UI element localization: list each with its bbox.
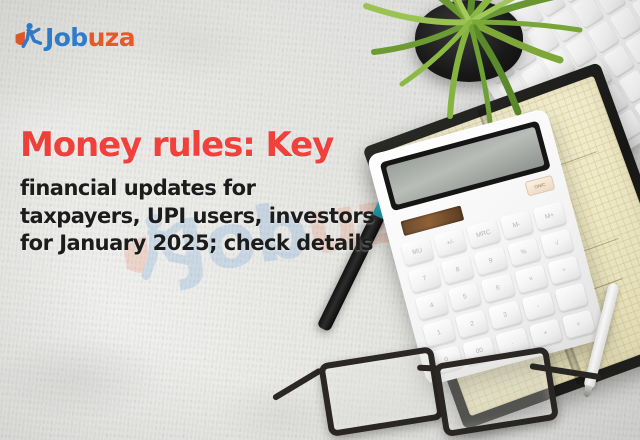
calculator-key[interactable]: 7 <box>408 264 442 294</box>
logo-running-person-icon <box>14 22 42 52</box>
article-hero-image: Jobuza <box>0 0 640 440</box>
logo-wordmark: Jobuza <box>45 25 135 50</box>
calculator-key[interactable]: 8 <box>441 255 475 285</box>
calculator-key[interactable]: 4 <box>415 291 449 321</box>
eyeglasses-lens-left <box>318 346 444 437</box>
eyeglasses-lens-right <box>433 346 559 437</box>
calculator-key[interactable]: × <box>514 264 548 294</box>
calculator-key[interactable]: M+ <box>532 201 566 231</box>
calculator-key[interactable]: √ <box>540 228 574 258</box>
calculator-key[interactable]: % <box>507 237 541 267</box>
logo-word-job: Job <box>45 23 88 52</box>
calculator-key[interactable]: 6 <box>481 273 515 303</box>
calculator-key[interactable]: ÷ <box>547 255 581 285</box>
calculator-key[interactable]: 9 <box>474 246 508 276</box>
logo-word-uza: uza <box>88 23 135 52</box>
subheadline-line: taxpayers, UPI users, investors <box>20 203 420 231</box>
calculator-onc-button[interactable]: ON/C <box>524 175 555 197</box>
article-headline: Money rules: Key <box>20 128 333 162</box>
calculator-key[interactable]: MRC <box>466 219 500 249</box>
jobuza-logo[interactable]: Jobuza <box>14 22 135 52</box>
subheadline-line: for January 2025; check details <box>20 230 420 258</box>
subheadline-line: financial updates for <box>20 175 420 203</box>
calculator-key[interactable]: M- <box>499 210 533 240</box>
calculator-key[interactable]: +/- <box>433 228 467 258</box>
article-subheadline: financial updates for taxpayers, UPI use… <box>20 175 420 258</box>
calculator-key[interactable]: 5 <box>448 282 482 312</box>
